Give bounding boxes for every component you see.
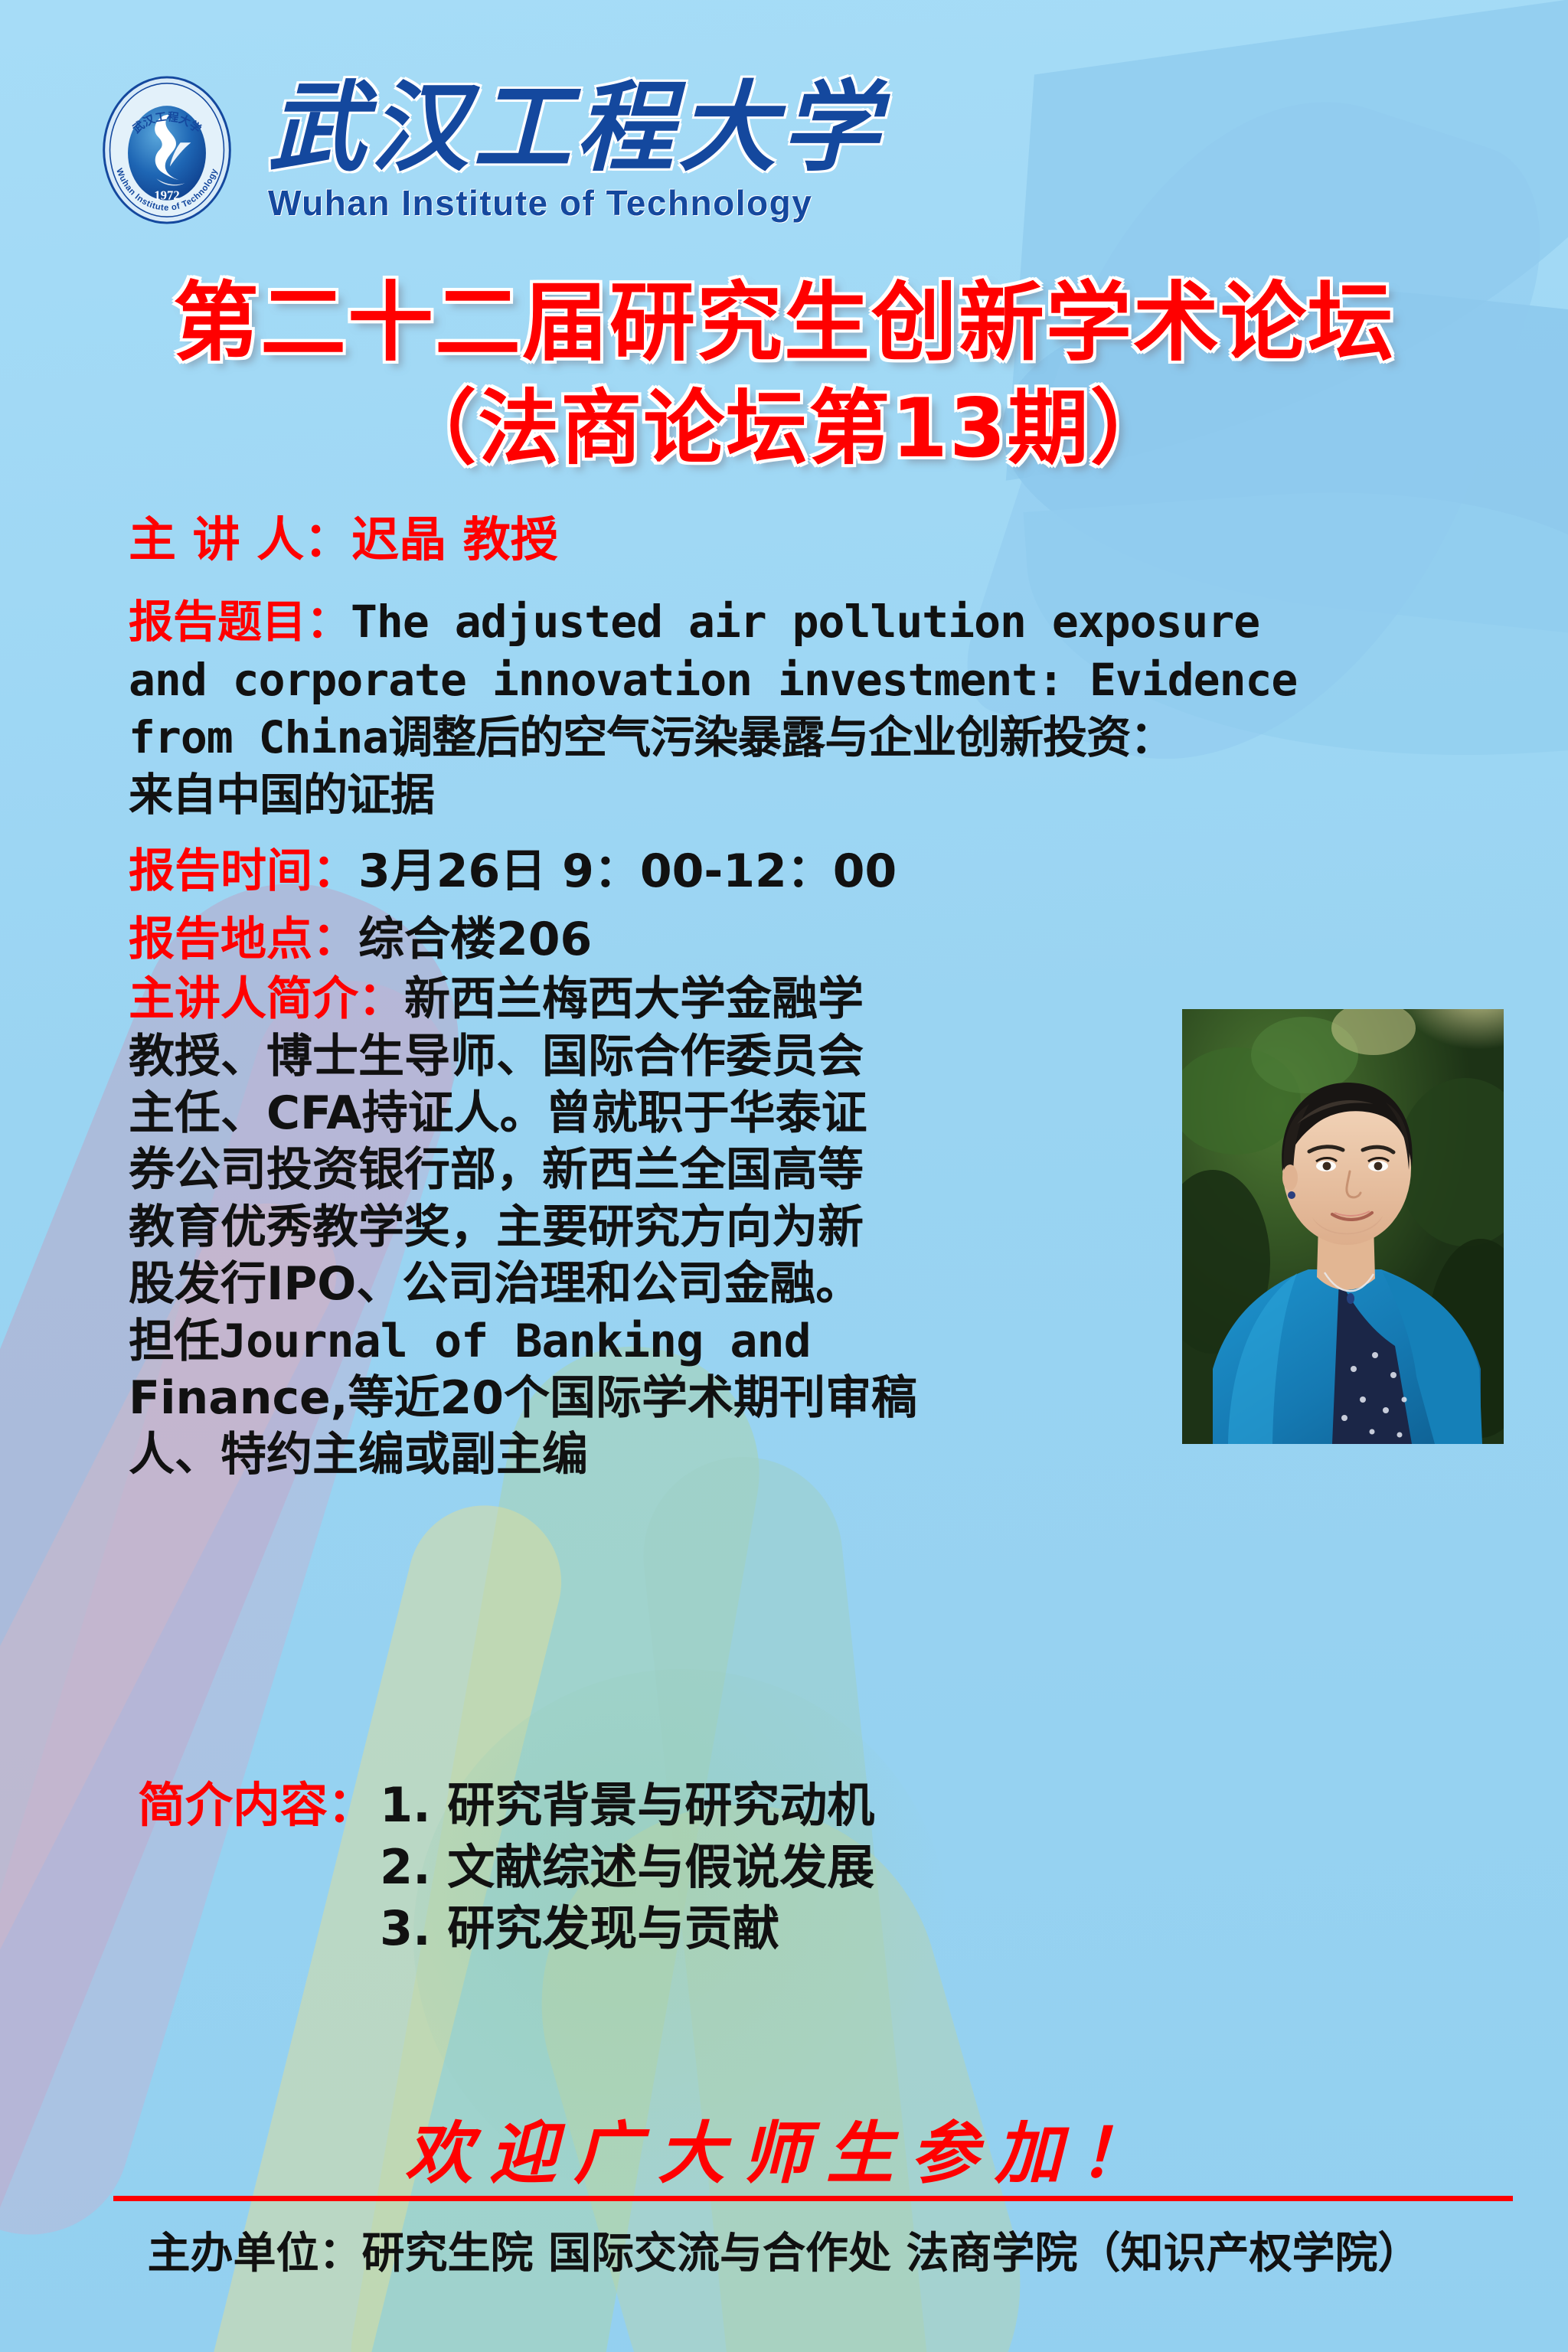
place-value: 综合楼206 (358, 913, 592, 966)
bio-line-1: 新西兰梅西大学金融学 (404, 972, 864, 1026)
outline-item-2: 2. 文献综述与假说发展 (380, 1837, 874, 1899)
bio-line-8: Finance,等近20个国际学术期刊审稿 (129, 1371, 917, 1425)
outline-section: 简介内容： 1. 研究背景与研究动机 2. 文献综述与假说发展 3. 研究发现与… (138, 1775, 874, 1960)
time-row: 报告时间：3月26日 9：00-12：00 (129, 844, 1507, 899)
topic-line-3: from China调整后的空气污染暴露与企业创新投资： (129, 711, 1174, 763)
organizer-footer: 主办单位：研究生院 国际交流与合作处 法商学院（知识产权学院） (0, 2219, 1568, 2281)
poster-root: 1972 武汉工程大学 Wuhan Institute of Technolog… (0, 0, 1568, 2352)
place-row: 报告地点：综合楼206 (129, 913, 1507, 967)
bio-line-9: 人、特约主编或副主编 (129, 1428, 588, 1481)
welcome-slogan: 欢迎广大师生参加！ (0, 2099, 1568, 2197)
bio-line-7: 担任Journal of Banking and (129, 1315, 811, 1368)
bio-line-3: 主任、CFA持证人。曾就职于华泰证 (129, 1086, 867, 1140)
place-label: 报告地点： (129, 913, 358, 966)
topic-row: 报告题目：The adjusted air pollution exposure… (129, 593, 1499, 825)
university-wordmark: 武汉工程大学 Wuhan Institute of Technology (268, 77, 884, 224)
outline-item-1: 1. 研究背景与研究动机 (380, 1775, 874, 1837)
wordmark-chinese: 武汉工程大学 (268, 77, 884, 179)
topic-label: 报告题目： (129, 596, 351, 648)
bio-row: 主讲人简介：新西兰梅西大学金融学 教授、博士生导师、国际合作委员会 主任、CFA… (129, 971, 1139, 1484)
speaker-row: 主 讲 人：迟晶 教授 (129, 511, 1507, 567)
bio-label: 主讲人简介： (129, 972, 404, 1026)
university-crest-icon: 1972 武汉工程大学 Wuhan Institute of Technolog… (92, 73, 242, 227)
outline-label: 简介内容： (138, 1775, 375, 1837)
speaker-label: 主 讲 人： (129, 511, 351, 567)
topic-line-4: 来自中国的证据 (129, 769, 434, 821)
university-header: 1972 武汉工程大学 Wuhan Institute of Technolog… (92, 73, 884, 227)
wordmark-english: Wuhan Institute of Technology (268, 182, 884, 224)
title-line-primary: 第二十二届研究生创新学术论坛 (0, 269, 1568, 377)
time-label: 报告时间： (129, 844, 358, 898)
speaker-portrait-photo (1182, 1009, 1504, 1444)
bio-line-2: 教授、博士生导师、国际合作委员会 (129, 1030, 864, 1083)
topic-line-2: and corporate innovation investment: Evi… (129, 654, 1297, 706)
bio-line-6: 股发行IPO、公司治理和公司金融。 (129, 1257, 861, 1311)
topic-line-1: The adjusted air pollution exposure (351, 596, 1259, 648)
bio-line-4: 券公司投资银行部，新西兰全国高等 (129, 1143, 864, 1197)
crest-year-label: 1972 (154, 188, 179, 203)
speaker-value: 迟晶 教授 (351, 511, 558, 567)
bio-line-5: 教育优秀教学奖，主要研究方向为新 (129, 1200, 864, 1254)
title-line-secondary: （法商论坛第13期） (0, 377, 1568, 480)
outline-list: 1. 研究背景与研究动机 2. 文献综述与假说发展 3. 研究发现与贡献 (380, 1775, 874, 1960)
time-value: 3月26日 9：00-12：00 (358, 844, 897, 898)
poster-title: 第二十二届研究生创新学术论坛 （法商论坛第13期） (0, 269, 1568, 480)
outline-item-3: 3. 研究发现与贡献 (380, 1898, 874, 1960)
footer-divider (113, 2196, 1513, 2201)
